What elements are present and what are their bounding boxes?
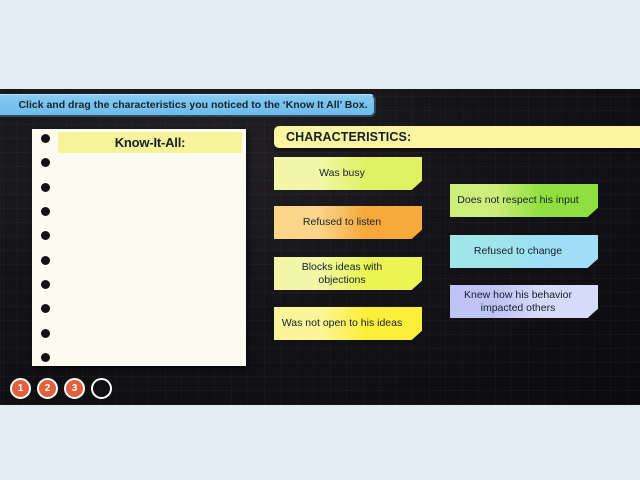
punch-hole	[41, 158, 50, 167]
characteristic-card-refused-to-listen[interactable]: Refused to listen	[274, 206, 422, 239]
characteristic-card-does-not-respect-his-input[interactable]: Does not respect his input	[450, 184, 598, 217]
know-it-all-dropzone[interactable]	[58, 153, 246, 366]
punch-hole	[41, 183, 50, 192]
notepad-title: Know-It-All:	[115, 135, 186, 150]
app-header: TrainingBriefs® Putting It All on the Ta…	[0, 44, 640, 89]
characteristic-card-label: Was busy	[319, 167, 365, 180]
punch-hole	[41, 304, 50, 313]
characteristics-header-label: CHARACTERISTICS:	[274, 130, 411, 144]
slide-navigation: 123	[10, 378, 112, 399]
characteristic-card-label: Was not open to his ideas	[282, 317, 402, 330]
characteristic-card-was-not-open-to-his-ideas[interactable]: Was not open to his ideas	[274, 307, 422, 340]
know-it-all-notepad[interactable]: Know-It-All:	[32, 129, 246, 366]
punch-hole	[41, 231, 50, 240]
characteristic-card-label: Refused to change	[474, 245, 562, 258]
nav-dot-2[interactable]: 2	[37, 378, 58, 399]
punch-hole	[41, 134, 50, 143]
punch-hole	[41, 207, 50, 216]
notepad-hole-strip	[37, 134, 53, 362]
nav-dot-1[interactable]: 1	[10, 378, 31, 399]
footer-blank-area	[0, 405, 640, 480]
characteristic-card-blocks-ideas-with-objections[interactable]: Blocks ideas with objections	[274, 257, 422, 290]
punch-hole	[41, 256, 50, 265]
characteristic-card-refused-to-change[interactable]: Refused to change	[450, 235, 598, 268]
elearning-slide: TrainingBriefs® Putting It All on the Ta…	[0, 0, 640, 480]
characteristic-card-label: Refused to listen	[303, 216, 381, 229]
characteristic-card-was-busy[interactable]: Was busy	[274, 157, 422, 190]
slide-stage: Click and drag the characteristics you n…	[0, 89, 640, 405]
punch-hole	[41, 353, 50, 362]
characteristic-card-label: Does not respect his input	[457, 194, 578, 207]
characteristic-card-label: Knew how his behavior impacted others	[454, 289, 582, 314]
nav-dot-4[interactable]	[91, 378, 112, 399]
instruction-text: Click and drag the characteristics you n…	[6, 99, 367, 111]
instruction-banner: Click and drag the characteristics you n…	[0, 94, 376, 117]
nav-dot-3[interactable]: 3	[64, 378, 85, 399]
characteristics-header: CHARACTERISTICS:	[274, 126, 640, 148]
characteristic-card-label: Blocks ideas with objections	[278, 261, 406, 286]
characteristic-card-knew-how-his-behavior-impacted-others[interactable]: Knew how his behavior impacted others	[450, 285, 598, 318]
punch-hole	[41, 329, 50, 338]
punch-hole	[41, 280, 50, 289]
notepad-header: Know-It-All:	[58, 132, 242, 153]
